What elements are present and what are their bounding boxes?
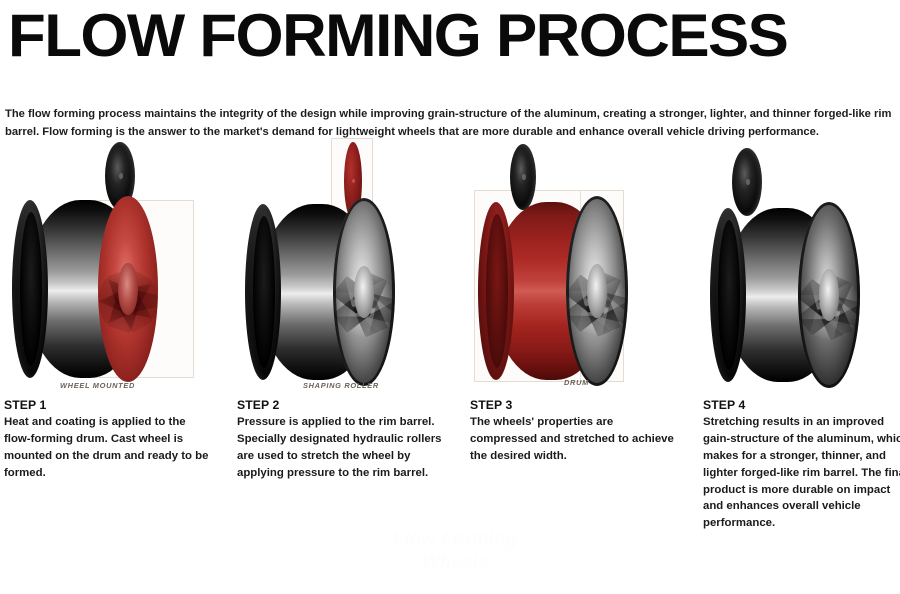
step-2-heading: STEP 2 [237, 398, 447, 412]
step-1-heading: STEP 1 [4, 398, 214, 412]
wheel-lip-inner [20, 212, 42, 366]
step-4-body: Stretching results in an improved gain-s… [703, 414, 900, 532]
step-3-heading: STEP 3 [470, 398, 680, 412]
step-2: STEP 2 Pressure is applied to the rim ba… [237, 398, 447, 482]
wheel-face-ring [798, 202, 860, 388]
part-label-shaping-roller: SHAPING ROLLER [303, 381, 379, 390]
wheel-spoke-face [98, 196, 158, 382]
figure-step-3: DRUM [468, 138, 693, 396]
figure-step-4 [700, 138, 900, 396]
step-4-heading: STEP 4 [703, 398, 900, 412]
watermark-line-1: Flow Forming [290, 528, 620, 552]
wheel-face-ring [333, 198, 395, 386]
wheel-spoke-face [333, 198, 395, 386]
wheel-lip-inner [718, 220, 740, 370]
part-label-wheel-mounted: WHEEL MOUNTED [60, 381, 135, 390]
step-4: STEP 4 Stretching results in an improved… [703, 398, 900, 532]
figure-step-2: SHAPING ROLLER [235, 138, 460, 396]
page-title: FLOW FORMING PROCESS [8, 6, 900, 66]
wheel-face-ring [566, 196, 628, 386]
step-1: STEP 1 Heat and coating is applied to th… [4, 398, 214, 482]
roller-black-icon [510, 144, 536, 210]
step-1-body: Heat and coating is applied to the flow-… [4, 414, 214, 482]
part-label-drum: DRUM [564, 378, 589, 387]
figure-step-1: WHEEL MOUNTED [2, 138, 227, 396]
illustration-band: WHEEL MOUNTED SHAPIN [0, 138, 900, 396]
wheel-hub [118, 263, 137, 315]
wheel-lip-inner [253, 216, 275, 368]
intro-paragraph: The flow forming process maintains the i… [5, 105, 895, 141]
wheel-lip-inner [486, 214, 508, 368]
wheel-spoke-face [566, 196, 628, 386]
step-3: STEP 3 The wheels' properties are compre… [470, 398, 680, 465]
watermark: Flow Forming Wheels [290, 528, 620, 576]
step-3-body: The wheels' properties are compressed an… [470, 414, 680, 465]
wheel-spoke-face [798, 202, 860, 388]
step-2-body: Pressure is applied to the rim barrel. S… [237, 414, 447, 482]
watermark-line-2: Wheels [290, 552, 620, 576]
roller-black-icon [732, 148, 762, 216]
